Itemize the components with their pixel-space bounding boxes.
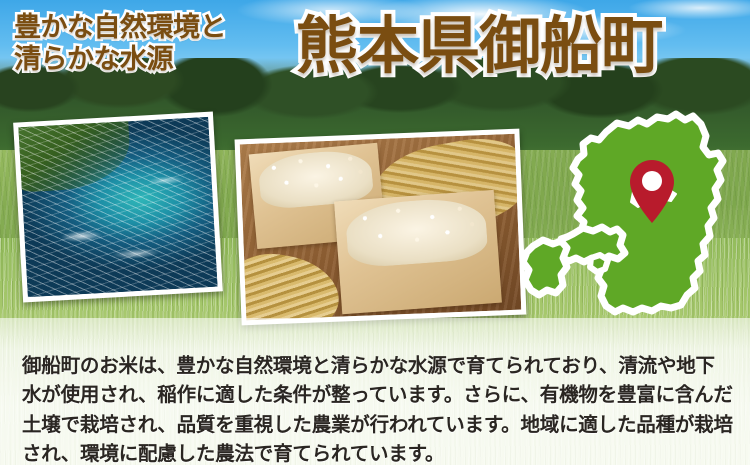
rice-masu-photo-inner — [240, 134, 522, 320]
description-panel: 御船町のお米は、豊かな自然環境と清らかな水源で育てられており、清流や地下水が使用… — [0, 318, 750, 465]
kumamoto-map-shape — [523, 114, 723, 312]
spring-water-photo-inner — [18, 117, 217, 297]
kumamoto-prefecture-map — [505, 98, 750, 334]
banner-subtitle: 豊かな自然環境と 清らかな水源 — [14, 12, 304, 76]
pin-dot — [642, 171, 662, 191]
rice-masu-image — [240, 134, 522, 320]
description-text: 御船町のお米は、豊かな自然環境と清らかな水源で育てられており、清流や地下水が使用… — [22, 352, 734, 465]
masu-box-front — [334, 190, 501, 314]
rice-grains-front — [343, 195, 488, 268]
spring-water-photo — [13, 112, 223, 303]
kumamoto-mifune-rice-banner: 豊かな自然環境と 清らかな水源 熊本県御船町 — [0, 0, 750, 465]
banner-title: 熊本県御船町 — [296, 16, 662, 78]
spring-water-image — [18, 117, 217, 297]
amakusa-island-lower-shape — [523, 240, 567, 295]
headline-block: 豊かな自然環境と 清らかな水源 熊本県御船町 — [0, 0, 750, 110]
rice-masu-photo — [235, 129, 527, 326]
amakusa-island-small-shape — [590, 255, 608, 272]
